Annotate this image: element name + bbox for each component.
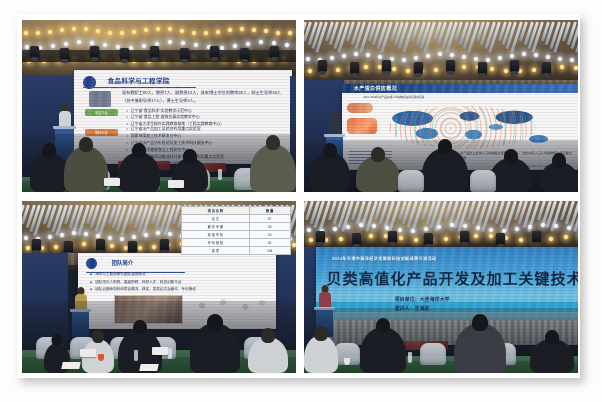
light-bulb-icon	[119, 30, 125, 36]
light-bulb-icon	[527, 224, 533, 230]
light-bulb-icon	[141, 43, 147, 49]
light-bulb-icon	[569, 57, 575, 63]
moving-head-light-icon	[90, 46, 99, 58]
slide-header-bar: 水产蛋白供应概况	[342, 84, 578, 93]
light-bulb-icon	[109, 243, 115, 249]
light-bulb-icon	[59, 232, 65, 238]
light-bulb-icon	[521, 51, 527, 57]
paper-sheet	[139, 364, 158, 371]
light-bulb-icon	[180, 40, 186, 46]
table-cell: 著 作 专 著	[181, 223, 249, 231]
table-header-row: 项 目 名 称 数 量	[181, 207, 290, 215]
table-header-cell: 数 量	[249, 207, 290, 215]
slide-org-value: 大连海洋大学	[420, 297, 450, 303]
light-bulb-icon	[518, 237, 524, 243]
collage-page: 食品科学与工程学院 COLLEGE OF FOOD SCIENCE AND EN…	[0, 0, 602, 402]
person-head	[371, 147, 385, 162]
stats-table: 项 目 名 称 数 量 论 文97 著 作 专 著33 标 准 专 利23 专 …	[181, 206, 291, 255]
slide-header-text: 水产蛋白供应概况	[354, 85, 397, 92]
moving-head-light-icon	[414, 62, 423, 74]
light-bulb-icon	[107, 235, 113, 241]
person-head	[132, 143, 146, 158]
light-bulb-icon	[263, 28, 269, 34]
table-cell: 97	[249, 215, 290, 223]
scene-hall-1: 食品科学与工程学院 COLLEGE OF FOOD SCIENCE AND EN…	[22, 20, 296, 192]
moving-head-light-icon	[352, 233, 361, 245]
moving-head-light-icon	[210, 46, 219, 58]
moving-head-light-icon	[388, 231, 397, 243]
audience-person	[64, 146, 108, 192]
person-head	[376, 318, 390, 333]
light-bulb-icon	[461, 54, 467, 60]
audience-area-3	[22, 301, 296, 373]
light-bulb-icon	[545, 54, 551, 60]
person-head	[133, 320, 147, 335]
bulb-row-2	[304, 66, 578, 76]
moving-head-light-icon	[128, 241, 137, 253]
person-head	[438, 139, 452, 154]
light-bulb-icon	[566, 225, 572, 231]
light-bulb-icon	[151, 244, 157, 250]
scene-hall-3: 团队简介 海洋与工程类研究团队建设情况 团队带头人职称、高级职称、科研人才、科技…	[22, 201, 296, 373]
light-bulb-icon	[35, 30, 41, 36]
light-bulb-icon	[193, 42, 199, 48]
light-bulb-icon	[143, 27, 149, 33]
person-head	[266, 135, 280, 150]
table-cell: 105	[249, 247, 290, 255]
audience-person	[422, 148, 468, 192]
light-bulb-icon	[462, 223, 468, 229]
chair	[470, 170, 496, 192]
slide-eyebrow: 2024年东港市海洋经济发展和科技创新成果交流活动	[332, 256, 437, 262]
light-bulb-icon	[47, 29, 53, 35]
light-bulb-icon	[335, 67, 341, 73]
light-bulb-icon	[239, 26, 245, 32]
audience-person	[356, 156, 400, 192]
light-bulb-icon	[306, 227, 312, 233]
moving-head-light-icon	[270, 46, 279, 58]
light-bulb-icon	[63, 41, 69, 47]
shrimp-photo	[347, 103, 373, 113]
light-bulb-icon	[227, 27, 233, 33]
list-item: 辽宁省"食品工程"虚拟仿真实验教学中心	[126, 114, 283, 121]
light-bulb-icon	[143, 232, 149, 238]
light-bulb-icon	[167, 26, 173, 32]
cup	[98, 354, 104, 361]
table-cell: 奖 项	[181, 247, 249, 255]
light-bulb-icon	[497, 55, 503, 61]
person-head	[504, 149, 518, 164]
table-cell: 33	[249, 223, 290, 231]
silver-tube-array	[304, 22, 578, 52]
light-bulb-icon	[413, 237, 419, 243]
light-bulb-icon	[95, 28, 101, 34]
person-head	[323, 143, 337, 158]
audience-area-1	[22, 134, 296, 192]
light-bulb-icon	[332, 226, 338, 232]
photo-bottom-right[interactable]: 2024年东港市海洋经济发展和科技创新成果交流活动 贝类高值化产品开发及加工关键…	[304, 201, 578, 373]
chair	[398, 170, 424, 192]
table-row: 论 文97	[181, 215, 290, 223]
audience-person	[118, 152, 160, 192]
light-bulb-icon	[540, 222, 546, 228]
light-bulb-icon	[559, 64, 565, 70]
moving-head-light-icon	[316, 231, 325, 243]
light-bulb-icon	[425, 53, 431, 59]
light-bulb-icon	[358, 222, 364, 228]
header-rule	[83, 87, 196, 88]
table-cell: 30	[249, 239, 290, 247]
light-bulb-icon	[83, 231, 89, 237]
slide-org: 项目单位：大连海洋大学	[395, 296, 568, 305]
audience-person	[30, 152, 68, 192]
light-bulb-icon	[50, 43, 56, 49]
person-head	[472, 314, 488, 331]
light-bulb-icon	[191, 30, 197, 36]
light-bulb-icon	[71, 230, 77, 236]
light-bulb-icon	[23, 235, 29, 241]
light-bulb-icon	[363, 64, 369, 70]
light-bulb-icon	[488, 233, 494, 239]
slide-paragraph: 现有教职工80人，教授7人，副教授14人，具有博士学位的教师35人，硕士生导师4…	[122, 89, 283, 105]
moving-head-light-icon	[424, 233, 433, 245]
light-bulb-icon	[573, 65, 578, 71]
light-bulb-icon	[531, 67, 537, 73]
light-bulb-icon	[307, 68, 313, 74]
audience-person	[540, 162, 578, 192]
light-bulb-icon	[102, 42, 108, 48]
photo-bottom-left[interactable]: 团队简介 海洋与工程类研究团队建设情况 团队带头人职称、高级职称、科研人才、科技…	[22, 201, 296, 373]
light-bulb-icon	[557, 56, 563, 62]
light-bulb-icon	[245, 41, 251, 47]
photo-grid: 食品科学与工程学院 COLLEGE OF FOOD SCIENCE AND EN…	[22, 20, 580, 378]
scene-hall-4: 2024年东港市海洋经济发展和科技创新成果交流活动 贝类高值化产品开发及加工关键…	[304, 201, 578, 373]
light-bulb-icon	[308, 237, 314, 243]
light-bulb-icon	[410, 228, 416, 234]
list-item: 辽宁省"食品科学"实验教学示范中心	[126, 108, 283, 115]
light-bulb-icon	[405, 68, 411, 74]
slide-org-label: 项目单位：	[395, 297, 420, 303]
light-bulb-icon	[489, 66, 495, 72]
light-bulb-icon	[107, 30, 113, 36]
light-bulb-icon	[473, 233, 479, 239]
light-bulb-icon	[548, 236, 554, 242]
light-bulb-icon	[251, 27, 257, 33]
light-bulb-icon	[436, 224, 442, 230]
light-bulb-icon	[155, 26, 161, 32]
light-bulb-icon	[397, 227, 403, 233]
photo-top-left[interactable]: 食品科学与工程学院 COLLEGE OF FOOD SCIENCE AND EN…	[22, 20, 296, 192]
light-bulb-icon	[329, 55, 335, 61]
light-bulb-icon	[275, 30, 281, 36]
cup	[344, 358, 350, 365]
moving-head-light-icon	[542, 62, 551, 74]
light-bulb-icon	[509, 53, 515, 59]
light-bulb-icon	[563, 234, 569, 240]
person-head	[52, 334, 63, 346]
light-bulb-icon	[423, 226, 429, 232]
name-placard	[80, 349, 96, 357]
light-bulb-icon	[345, 224, 351, 230]
light-bulb-icon	[155, 230, 161, 236]
moving-head-light-icon	[510, 60, 519, 72]
table-row: 标 准 专 利23	[181, 231, 290, 239]
light-bulb-icon	[475, 225, 481, 231]
teaching-list: 辽宁省"食品科学"实验教学示范中心 辽宁省"食品工程"虚拟仿真实验教学中心 辽宁…	[126, 108, 283, 128]
water-bottle	[134, 350, 138, 361]
moving-head-light-icon	[120, 48, 129, 60]
person-head	[261, 328, 275, 343]
person-head	[42, 143, 56, 158]
list-item: 辽宁省水产品加工及综合利用重点实验室	[126, 126, 287, 133]
light-bulb-icon	[271, 40, 277, 46]
light-bulb-icon	[83, 26, 89, 32]
table-row: 专 利 授 权30	[181, 239, 290, 247]
person-head	[207, 314, 223, 331]
audience-person	[530, 339, 574, 373]
light-bulb-icon	[71, 26, 77, 32]
light-bulb-icon	[119, 236, 125, 242]
light-bulb-icon	[443, 236, 449, 242]
audience-area-2	[304, 140, 578, 192]
light-bulb-icon	[167, 231, 173, 237]
light-bulb-icon	[353, 51, 359, 57]
moving-head-light-icon	[180, 48, 189, 60]
light-bulb-icon	[291, 242, 296, 248]
bulb-row-1	[22, 28, 296, 38]
light-bulb-icon	[449, 52, 455, 58]
moving-head-light-icon	[30, 46, 39, 58]
audience-person	[490, 158, 532, 192]
moving-head-light-icon	[240, 48, 249, 60]
light-bulb-icon	[391, 66, 397, 72]
water-bottle	[218, 169, 222, 180]
light-bulb-icon	[377, 54, 383, 60]
audience-area-4	[304, 308, 578, 373]
slide-subtitle: COLLEGE OF FOOD SCIENCE AND ENGINEERING	[108, 82, 170, 85]
audience-person	[304, 335, 338, 373]
list-item: 团队近期承担科研项目情况、获奖、发表论文及著作、专利授权	[90, 286, 213, 294]
light-bulb-icon	[137, 245, 143, 251]
light-bulb-icon	[305, 56, 311, 62]
person-head	[552, 153, 566, 168]
list-item: 团队带头人职称、高级职称、科研人才、科技创新平台	[90, 279, 213, 287]
person-head	[314, 326, 328, 341]
moving-head-light-icon	[382, 60, 391, 72]
light-bulb-icon	[203, 30, 209, 36]
moving-head-light-icon	[532, 231, 541, 243]
moving-head-light-icon	[160, 239, 169, 251]
light-bulb-icon	[365, 52, 371, 58]
person-head	[92, 330, 104, 343]
light-bulb-icon	[284, 42, 290, 48]
light-bulb-icon	[258, 39, 264, 45]
photo-top-right[interactable]: 水产蛋白供应概况 2017-2019年水产品在成人均动物蛋白供应量的贡献 水产品…	[304, 20, 578, 192]
audience-person	[310, 152, 350, 192]
table-cell: 专 利 授 权	[181, 239, 249, 247]
light-bulb-icon	[433, 67, 439, 73]
light-bulb-icon	[131, 234, 137, 240]
name-placard	[152, 347, 168, 355]
moving-head-light-icon	[496, 233, 505, 245]
moving-head-light-icon	[60, 48, 69, 60]
slide-caption: 2017-2019年水产品在成人均动物蛋白供应量的贡献	[363, 95, 424, 99]
table-cell: 论 文	[181, 215, 249, 223]
moving-head-light-icon	[350, 62, 359, 74]
water-bottle	[168, 348, 172, 359]
light-bulb-icon	[371, 223, 377, 229]
light-bulb-icon	[76, 39, 82, 45]
university-logo-icon	[86, 258, 97, 269]
person-head	[79, 137, 93, 152]
audience-person	[248, 337, 288, 373]
name-placard	[168, 180, 184, 188]
light-bulb-icon	[287, 30, 293, 36]
moving-head-light-icon	[64, 241, 73, 253]
light-bulb-icon	[47, 234, 53, 240]
light-bulb-icon	[413, 55, 419, 61]
light-bulb-icon	[81, 241, 87, 247]
table-row: 奖 项105	[181, 247, 290, 255]
salmon-photo	[347, 118, 377, 134]
podium-top	[53, 126, 76, 129]
light-bulb-icon	[437, 51, 443, 57]
paper-sheet	[61, 362, 80, 369]
light-bulb-icon	[449, 222, 455, 228]
light-bulb-icon	[368, 233, 374, 239]
slide-faculty-photo	[89, 91, 111, 107]
light-bulb-icon	[398, 235, 404, 241]
table-header-cell: 项 目 名 称	[181, 207, 249, 215]
table-cell: 23	[249, 231, 290, 239]
bulb-row-1	[304, 54, 578, 64]
light-bulb-icon	[59, 27, 65, 33]
light-bulb-icon	[338, 236, 344, 242]
slide-title: 团队简介	[112, 259, 134, 267]
light-bulb-icon	[89, 40, 95, 46]
slide-main-title: 贝类高值化产品开发及加工关键技术	[326, 268, 578, 289]
moving-head-light-icon	[460, 231, 469, 243]
light-bulb-icon	[23, 30, 29, 36]
light-bulb-icon	[341, 53, 347, 59]
light-bulb-icon	[53, 244, 59, 250]
light-bulb-icon	[553, 223, 559, 229]
moving-head-light-icon	[318, 60, 327, 72]
moving-head-light-icon	[150, 46, 159, 58]
audience-person	[360, 327, 406, 373]
light-bulb-icon	[167, 39, 173, 45]
tag-teaching-platform: 专业平台	[85, 109, 118, 116]
podium-top	[324, 134, 345, 137]
team-bullet-list: 海洋与工程类研究团队建设情况 团队带头人职称、高级职称、科研人才、科技创新平台 …	[90, 271, 213, 294]
light-bulb-icon	[533, 52, 539, 58]
moving-head-light-icon	[32, 239, 41, 251]
table-row: 著 作 专 著33	[181, 223, 290, 231]
light-bulb-icon	[25, 245, 31, 251]
light-bulb-icon	[215, 29, 221, 35]
light-bulb-icon	[514, 226, 520, 232]
moving-head-light-icon	[96, 239, 105, 251]
light-bulb-icon	[461, 64, 467, 70]
moving-head-light-icon	[446, 60, 455, 72]
light-bulb-icon	[503, 68, 509, 74]
chair	[420, 343, 446, 365]
slide-header: 食品科学与工程学院 COLLEGE OF FOOD SCIENCE AND EN…	[83, 75, 196, 86]
scene-hall-2: 水产蛋白供应概况 2017-2019年水产品在成人均动物蛋白供应量的贡献 水产品…	[304, 20, 578, 192]
light-bulb-icon	[401, 57, 407, 63]
table-cell: 标 准 专 利	[181, 231, 249, 239]
moving-head-light-icon	[478, 62, 487, 74]
list-item: 海洋与工程类研究团队建设情况	[90, 271, 213, 279]
person-head	[545, 330, 559, 345]
person-head	[183, 149, 197, 164]
light-bulb-icon	[131, 29, 137, 35]
light-bulb-icon	[179, 28, 185, 34]
name-placard	[104, 178, 120, 186]
light-bulb-icon	[232, 43, 238, 49]
water-bottle	[408, 352, 412, 363]
